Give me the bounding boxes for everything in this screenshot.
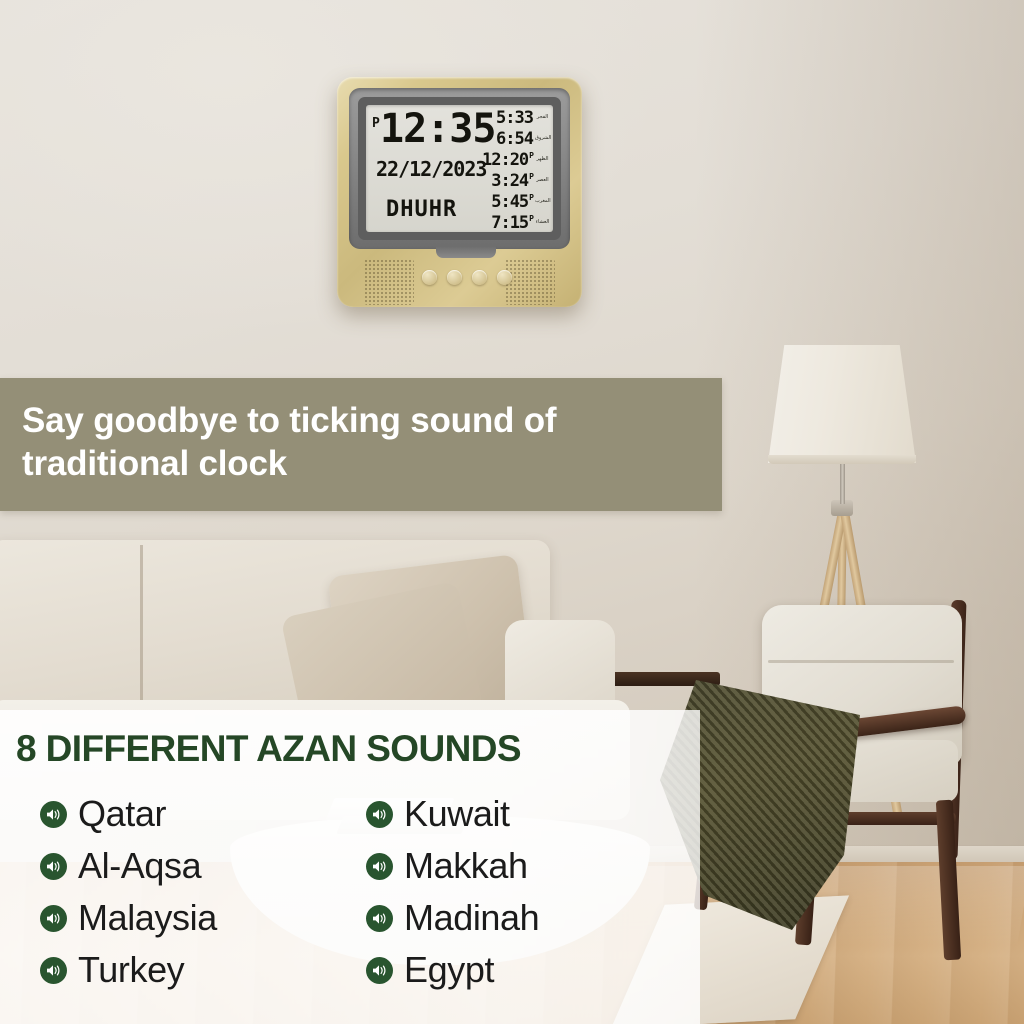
azan-sound-name: Al-Aqsa [78, 848, 201, 884]
speaker-grille-icon [364, 259, 414, 305]
list-item[interactable]: Qatar [40, 788, 352, 840]
clock-housing-chin [436, 246, 496, 258]
prayer-time-value: 3:24 [491, 171, 528, 191]
headline-text: Say goodbye to ticking sound of traditio… [0, 400, 556, 489]
prayer-time-meridiem: P [529, 151, 534, 160]
azan-wall-clock[interactable]: P 12:35 22/12/2023 DHUHR 5:33 الفجر 6:54 [337, 77, 582, 307]
clock-button-2[interactable] [447, 270, 462, 285]
azan-sound-name: Makkah [404, 848, 528, 884]
prayer-name-arabic: الشروق [535, 136, 550, 141]
prayer-name-arabic: العشاء [535, 220, 550, 225]
prayer-time-value: 7:15 [491, 213, 528, 233]
lcd-display: P 12:35 22/12/2023 DHUHR 5:33 الفجر 6:54 [366, 105, 553, 232]
prayer-time-row: 5:33 الفجر [476, 107, 550, 128]
speaker-icon [40, 957, 67, 984]
list-item[interactable]: Malaysia [40, 892, 352, 944]
prayer-name-arabic: الفجر [535, 115, 550, 120]
speaker-grille-icon [505, 259, 555, 305]
speaker-icon [366, 905, 393, 932]
clock-button-3[interactable] [472, 270, 487, 285]
prayer-name-arabic: الظهر [535, 157, 550, 162]
azan-sound-name: Egypt [404, 952, 494, 988]
headline-banner: Say goodbye to ticking sound of traditio… [0, 378, 722, 511]
prayer-name-arabic: المغرب [535, 199, 550, 204]
armchair-cushion-seam [768, 660, 954, 663]
list-item[interactable]: Makkah [366, 840, 678, 892]
speaker-icon [40, 801, 67, 828]
azan-sounds-column-left: Qatar Al-Aqsa Malaysia [40, 788, 352, 996]
list-item[interactable]: Turkey [40, 944, 352, 996]
clock-button-4[interactable] [497, 270, 512, 285]
speaker-icon [366, 957, 393, 984]
lcd-ampm-indicator: P [372, 116, 379, 131]
lamp-shade-rim [768, 455, 916, 464]
clock-button-1[interactable] [422, 270, 437, 285]
clock-bezel: P 12:35 22/12/2023 DHUHR 5:33 الفجر 6:54 [358, 97, 561, 240]
prayer-time-row: 6:54 الشروق [476, 128, 550, 149]
sofa-cushion-seam [140, 545, 143, 720]
prayer-time-value: 5:45 [491, 192, 528, 212]
clock-button-row[interactable] [422, 270, 512, 285]
azan-sound-name: Kuwait [404, 796, 510, 832]
prayer-time-row: 7:15 P العشاء [476, 212, 550, 232]
list-item[interactable]: Madinah [366, 892, 678, 944]
speaker-icon [40, 853, 67, 880]
clock-screen-housing: P 12:35 22/12/2023 DHUHR 5:33 الفجر 6:54 [349, 88, 570, 249]
headline-line-1: Say goodbye to ticking sound of [22, 400, 556, 443]
speaker-icon [366, 801, 393, 828]
prayer-time-row: 12:20 P الظهر [476, 149, 550, 170]
azan-sound-name: Qatar [78, 796, 166, 832]
prayer-time-value: 5:33 [496, 108, 533, 128]
azan-sounds-panel: 8 DIFFERENT AZAN SOUNDS Qatar Al-Aqsa [0, 710, 700, 1024]
speaker-icon [366, 853, 393, 880]
prayer-time-row: 3:24 P العصر [476, 170, 550, 191]
lcd-prayer-times-list: 5:33 الفجر 6:54 الشروق 12:20 P الظ [476, 107, 550, 232]
list-item[interactable]: Kuwait [366, 788, 678, 840]
prayer-time-meridiem: P [529, 172, 534, 181]
azan-sound-name: Turkey [78, 952, 184, 988]
azan-sound-name: Malaysia [78, 900, 217, 936]
list-item[interactable]: Egypt [366, 944, 678, 996]
lamp-rod [840, 462, 845, 504]
azan-sound-name: Madinah [404, 900, 539, 936]
product-promo-scene: P 12:35 22/12/2023 DHUHR 5:33 الفجر 6:54 [0, 0, 1024, 1024]
prayer-time-value: 12:20 [482, 150, 528, 170]
azan-sounds-columns: Qatar Al-Aqsa Malaysia [40, 788, 690, 996]
prayer-time-meridiem: P [529, 193, 534, 202]
lcd-current-prayer: DHUHR [386, 197, 457, 222]
azan-sounds-column-right: Kuwait Makkah Madinah [366, 788, 678, 996]
speaker-icon [40, 905, 67, 932]
headline-line-2: traditional clock [22, 443, 556, 486]
lcd-date: 22/12/2023 [376, 157, 486, 181]
panel-title: 8 DIFFERENT AZAN SOUNDS [16, 728, 521, 770]
prayer-time-row: 5:45 P المغرب [476, 191, 550, 212]
prayer-time-meridiem: P [529, 214, 534, 223]
lamp-shade [768, 345, 916, 463]
prayer-time-value: 6:54 [496, 129, 533, 149]
list-item[interactable]: Al-Aqsa [40, 840, 352, 892]
prayer-name-arabic: العصر [535, 178, 550, 183]
